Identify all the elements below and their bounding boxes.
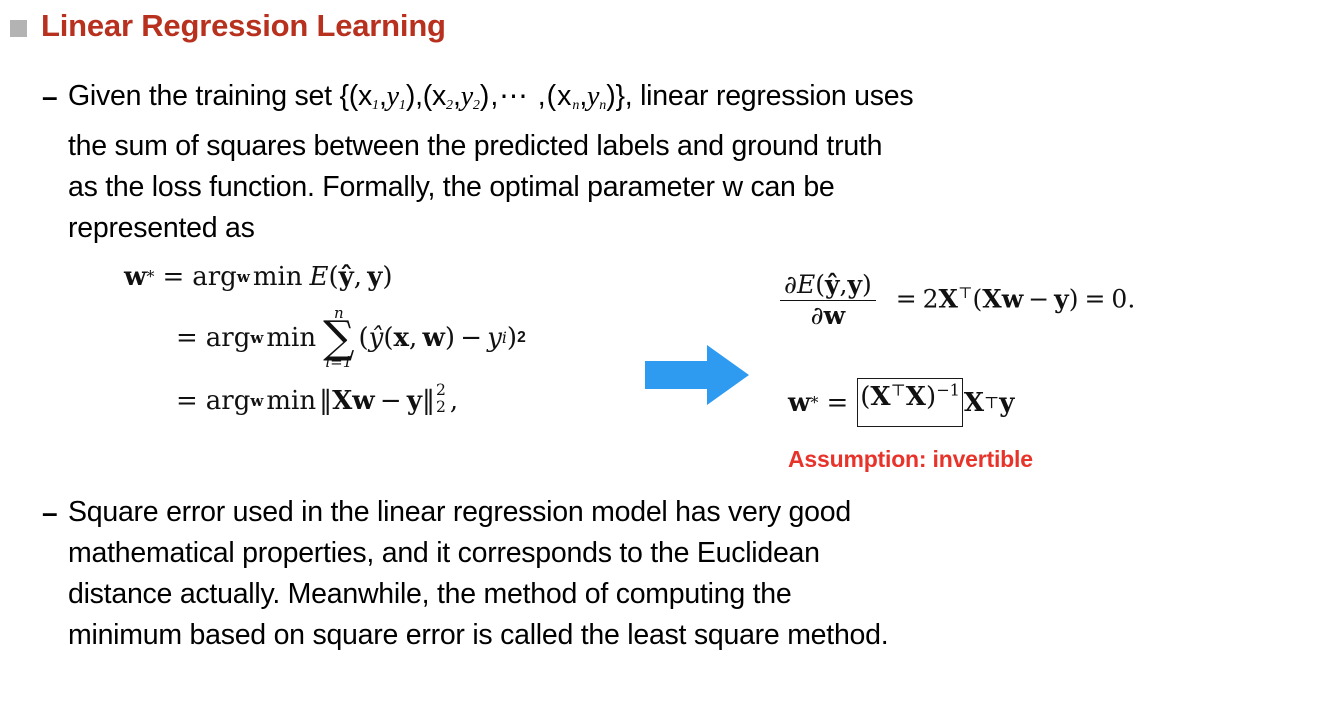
eq2-min: min	[266, 325, 316, 351]
eqr1-w: w	[1002, 284, 1024, 313]
eqr1-X: X	[939, 284, 958, 313]
seg-text: )}, linear regression uses	[606, 80, 913, 112]
fraction-denominator: ∂w	[807, 301, 849, 329]
bullet-2-line-3: distance actually. Meanwhile, the method…	[68, 574, 888, 615]
seg-text: ),(x	[406, 80, 446, 112]
slide-canvas: Linear Regression Learning – Given the t…	[0, 0, 1340, 719]
seg-var-w: w	[722, 171, 742, 203]
frac-w: w	[824, 301, 846, 330]
eq3-w: w	[352, 388, 374, 414]
bullet-dash-2: –	[42, 492, 68, 533]
sigma-icon: ∑	[323, 319, 354, 356]
norm-subscript: 2	[436, 399, 446, 415]
summation-operator: n ∑ i=1	[323, 306, 354, 370]
right-arrow-icon	[645, 345, 749, 405]
seg-sub-x1: 1	[372, 98, 379, 113]
eqr2-X3: X	[964, 388, 984, 418]
eqr2-w: w	[788, 388, 810, 418]
bullet-body-2: Square error used in the linear regressi…	[68, 492, 888, 656]
eqr2-inverse-exponent: −1	[936, 380, 960, 399]
eq1-y: y	[367, 264, 382, 290]
seg-sub-y2: 2	[473, 98, 480, 113]
eq2-arg: arg	[206, 325, 251, 351]
seg-y2: y	[461, 81, 473, 112]
eq3-X: X	[332, 388, 352, 414]
seg-text: can be	[743, 171, 835, 203]
seg-comma: ,	[579, 80, 587, 112]
seg-y1: y	[387, 81, 399, 112]
bullet-item-2: – Square error used in the linear regres…	[42, 492, 1332, 656]
eq3-y: y	[407, 388, 422, 414]
seg-sub-y1: 1	[399, 98, 406, 113]
bullet-1-line-4: represented as	[68, 208, 913, 249]
eq1-yhat: ŷ	[339, 264, 354, 290]
frac-E: E	[797, 270, 815, 299]
eq3-norm-open: ‖	[319, 388, 332, 414]
eq2-equals: =	[176, 325, 198, 351]
eqr1-equals2: =	[1084, 284, 1105, 313]
eq1-equals: =	[162, 264, 184, 290]
eq3-min: min	[266, 388, 316, 414]
eqr1-equals: =	[896, 284, 917, 313]
slide-title-row: Linear Regression Learning	[10, 8, 446, 44]
sum-lower-limit: i=1	[325, 355, 352, 370]
eqr1-y: y	[1054, 284, 1069, 313]
bullet-2-line-1: Square error used in the linear regressi…	[68, 492, 888, 533]
eqr2-X2: X	[906, 382, 926, 412]
eqr2-transpose-1: ⊤	[891, 380, 906, 399]
eq1-E: E	[310, 264, 329, 290]
equation-line-2: = argw min n ∑ i=1 (ŷ(x, w) − yi)2	[124, 306, 526, 370]
seg-sub-x2: 2	[446, 98, 453, 113]
boxed-inverse-term: (X⊤X)−1	[857, 378, 963, 427]
equation-line-1: w* = argw min E(ŷ, y)	[124, 264, 526, 290]
seg-yn: y	[587, 81, 599, 112]
eqr2-X: X	[870, 382, 890, 412]
frac-yhat: ŷ	[825, 270, 840, 299]
eqr2-equals: =	[826, 388, 848, 418]
bullet-body-1: Given the training set {(x1,y1),(x2,y2),…	[68, 76, 913, 249]
seg-comma: ,	[379, 80, 387, 112]
seg-text: as the loss function. Formally, the opti…	[68, 171, 722, 203]
eq1-lhs-w: w	[124, 264, 146, 290]
bullet-dash-1: –	[42, 76, 68, 117]
eqr1-X2: X	[982, 284, 1001, 313]
seg-ellipsis: ),⋯ ,(x	[480, 80, 573, 112]
fraction-numerator: ∂E(ŷ,y)	[780, 272, 876, 300]
equation-block-left: w* = argw min E(ŷ, y) = argw min n ∑ i=1…	[124, 264, 526, 417]
eqr1-coefficient: 2	[923, 284, 939, 313]
eq2-y: y	[487, 325, 502, 351]
bullet-2-line-2: mathematical properties, and it correspo…	[68, 533, 888, 574]
equation-block-right-1: ∂E(ŷ,y) ∂w =2X⊤(Xw − y)=0.	[780, 272, 1135, 330]
eq1-arg: arg	[192, 264, 237, 290]
equation-block-right-2: w* = (X⊤X)−1 X⊤y	[788, 378, 1014, 427]
seg-comma: ,	[453, 80, 461, 112]
eqr2-y: y	[999, 388, 1014, 418]
eq3-equals: =	[176, 388, 198, 414]
eq3-norm-indices: 22	[436, 382, 446, 415]
eq2-w: w	[423, 325, 445, 351]
seg-text: Given the training set {(x	[68, 80, 372, 112]
eq2-x: x	[394, 325, 410, 351]
eqr1-transpose: ⊤	[958, 284, 973, 302]
bullet-2-line-4: minimum based on square error is called …	[68, 615, 888, 656]
eq3-arg: arg	[206, 388, 251, 414]
title-bullet-icon	[10, 20, 27, 37]
equation-line-3: = argw min ‖Xw − y‖22,	[124, 384, 526, 417]
eqr1-result: 0.	[1111, 284, 1135, 313]
eq1-min: min	[253, 264, 303, 290]
eq3-trailing-comma: ,	[450, 388, 458, 414]
bullet-item-1: – Given the training set {(x1,y1),(x2,y2…	[42, 76, 1222, 249]
bullet-1-line-1: Given the training set {(x1,y1),(x2,y2),…	[68, 76, 913, 126]
assumption-note: Assumption: invertible	[788, 446, 1033, 473]
norm-superscript: 2	[436, 382, 446, 398]
partial-derivative-fraction: ∂E(ŷ,y) ∂w	[780, 272, 876, 330]
eq2-yhat: ŷ	[369, 325, 384, 351]
frac-y: y	[847, 270, 862, 299]
bullet-1-line-2: the sum of squares between the predicted…	[68, 126, 913, 167]
eq3-norm-close: ‖	[422, 388, 435, 414]
page-title: Linear Regression Learning	[41, 8, 446, 44]
bullet-1-line-3: as the loss function. Formally, the opti…	[68, 167, 913, 208]
